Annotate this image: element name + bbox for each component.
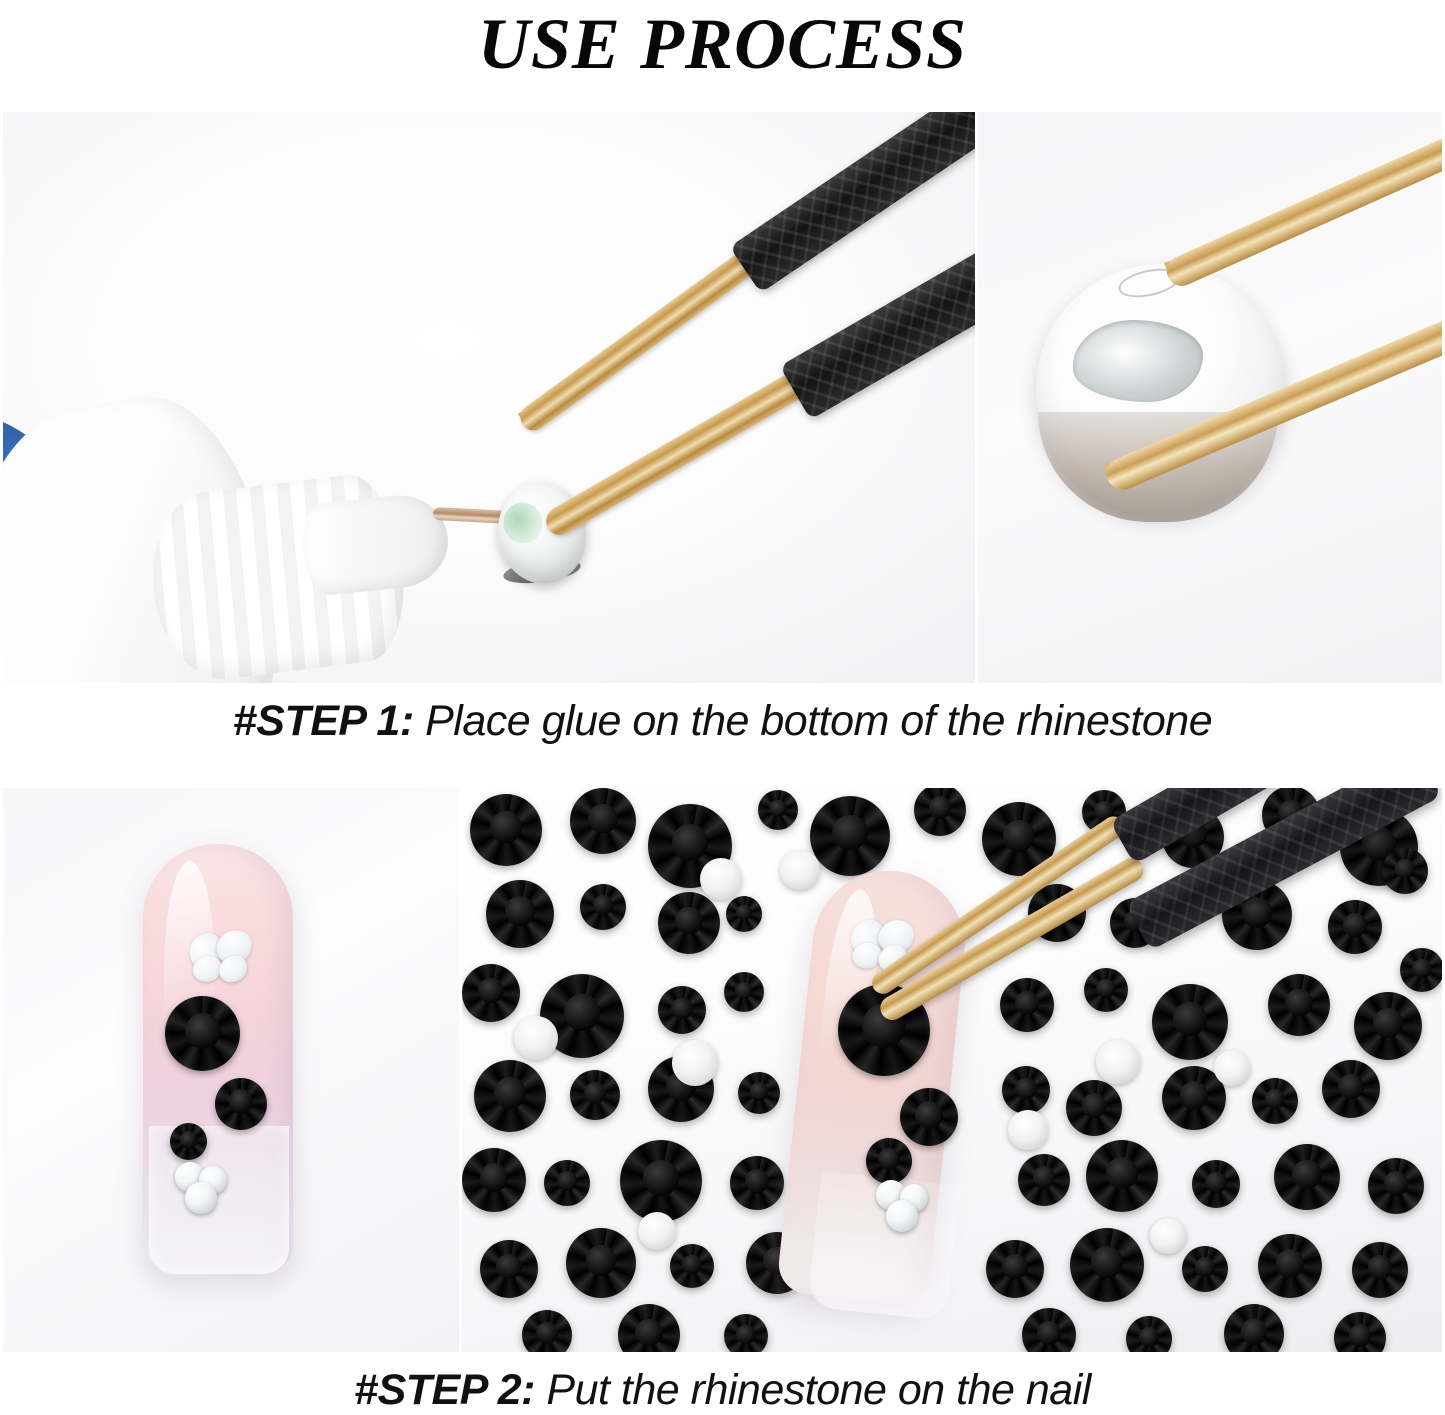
clear-stone-3 [185, 1182, 217, 1214]
step-2-caption: #STEP 2: Put the rhinestone on the nail [0, 1366, 1445, 1415]
glue-bead [1073, 320, 1203, 402]
clear-stone-3 [886, 1200, 918, 1232]
glue-bottle-tip-base [299, 491, 453, 598]
glued-rhinestone-closeup-photo: Gold tweezers holding a round flat-back … [978, 112, 1442, 683]
step-2-panel-row: Pink to lavender ombre coffin-shaped pre… [3, 788, 1442, 1352]
page-title: USE PROCESS [0, 0, 1445, 92]
clear-stone-cluster [173, 1162, 233, 1214]
black-rhinestone-small [866, 1138, 912, 1184]
step-1-text: Place glue on the bottom of the rhinesto… [414, 697, 1212, 745]
finished-nail-photo: Pink to lavender ombre coffin-shaped pre… [3, 788, 462, 1352]
black-rhinestone-medium [900, 1088, 958, 1146]
black-rhinestone-small [170, 1123, 207, 1160]
butterfly-charm [189, 930, 255, 988]
black-rhinestone-large [165, 996, 240, 1071]
step-1-label: #STEP 1: [233, 697, 414, 745]
clear-stone-cluster [874, 1180, 938, 1234]
step-2-label: #STEP 2: [354, 1366, 535, 1414]
step-1-panel-row: White glue bottle with blue cap and thin… [3, 112, 1442, 683]
tweezer-grip-upper [729, 112, 978, 293]
tweezer-arm-upper [1162, 125, 1442, 291]
black-rhinestone-medium [215, 1078, 267, 1130]
glue-applicator-photo: White glue bottle with blue cap and thin… [3, 112, 978, 683]
infographic-page: USE PROCESS White glue bottle with blue … [0, 0, 1445, 1412]
step-1-caption: #STEP 1: Place glue on the bottom of the… [0, 697, 1445, 746]
step-2-text: Put the rhinestone on the nail [535, 1366, 1091, 1414]
rhinestone-application-photo: Many loose black faceted flat-back rhine… [462, 788, 1442, 1352]
